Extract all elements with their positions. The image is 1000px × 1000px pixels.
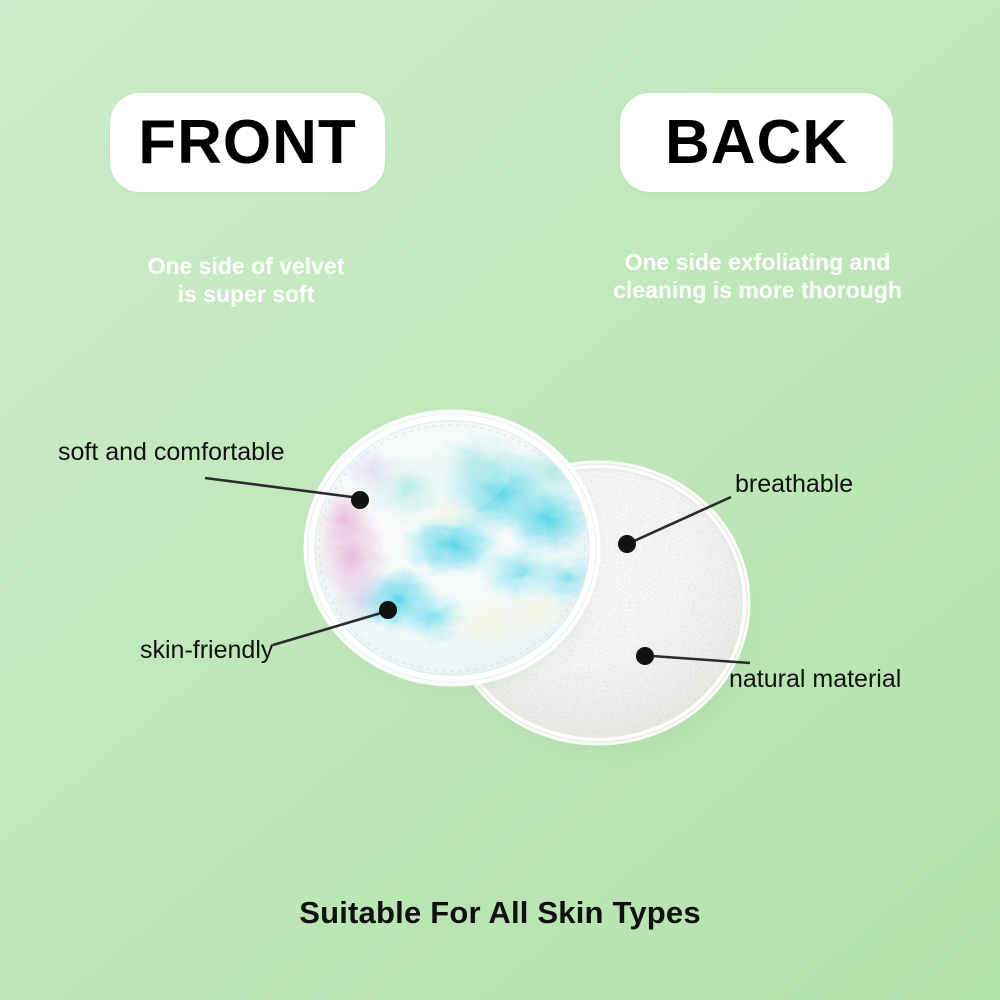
back-subtitle: One side exfoliating and cleaning is mor… bbox=[565, 248, 950, 304]
back-label-pill: BACK bbox=[620, 93, 893, 192]
front-subtitle: One side of velvet is super soft bbox=[86, 252, 406, 308]
front-pad bbox=[308, 414, 602, 690]
product-infographic: FRONT BACK One side of velvet is super s… bbox=[0, 0, 1000, 1000]
bottom-caption: Suitable For All Skin Types bbox=[0, 895, 1000, 931]
front-subtitle-line-2: is super soft bbox=[86, 280, 406, 308]
back-label-text: BACK bbox=[665, 112, 848, 174]
callout-label-skin-friendly: skin-friendly bbox=[140, 636, 273, 665]
front-label-text: FRONT bbox=[138, 112, 357, 174]
front-subtitle-line-1: One side of velvet bbox=[86, 252, 406, 280]
callout-label-natural-material: natural material bbox=[729, 665, 901, 694]
back-subtitle-line-1: One side exfoliating and bbox=[565, 248, 950, 276]
callout-label-breathable: breathable bbox=[735, 470, 853, 499]
front-label-pill: FRONT bbox=[110, 93, 385, 192]
callout-label-soft-and-comfortable: soft and comfortable bbox=[58, 438, 285, 467]
back-subtitle-line-2: cleaning is more thorough bbox=[565, 276, 950, 304]
